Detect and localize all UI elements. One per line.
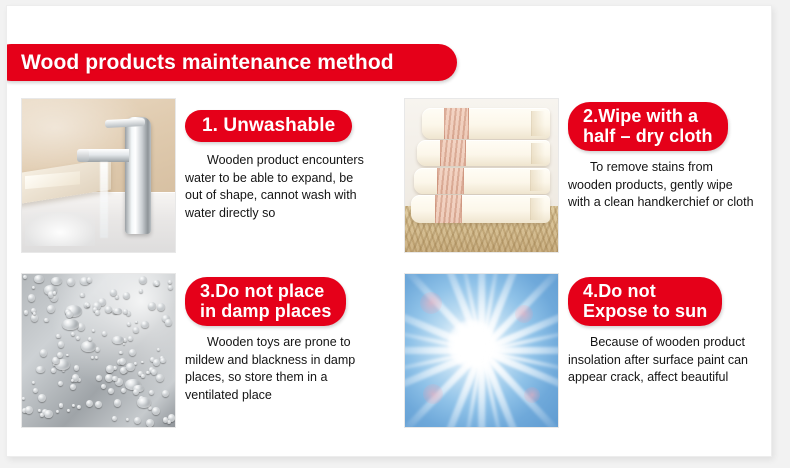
water-droplet <box>34 275 44 282</box>
water-droplet <box>101 384 106 389</box>
lens-flare-spot <box>515 305 533 323</box>
tip-heading-3: 3.Do not place in damp places <box>185 277 346 326</box>
towel-fold <box>530 170 545 191</box>
tip-heading-3-line1: 3.Do not place <box>200 281 324 301</box>
towel-band <box>440 140 466 166</box>
tip-description-4: Because of wooden product insolation aft… <box>568 334 754 387</box>
water-droplet <box>40 349 47 356</box>
content-canvas: Wood products maintenance method <box>6 5 772 457</box>
water-droplet <box>113 308 122 315</box>
water-stream <box>100 162 108 239</box>
water-droplet <box>157 303 165 311</box>
towel-3 <box>414 168 550 194</box>
tips-grid: 1. Unwashable Wooden product encounters … <box>7 98 772 428</box>
water-droplet <box>71 379 74 382</box>
water-droplet <box>32 381 36 385</box>
water-droplet <box>66 354 69 357</box>
water-droplet <box>24 310 28 314</box>
water-droplet <box>51 368 56 373</box>
tip-heading-2-line2: half – dry cloth <box>583 126 713 146</box>
water-droplet <box>80 293 85 298</box>
water-droplet <box>47 305 55 313</box>
water-droplet <box>38 409 41 412</box>
water-droplet <box>95 401 102 408</box>
water-droplet <box>157 348 160 351</box>
towel-band <box>444 108 469 139</box>
tip-body-2: 2.Wipe with a half – dry cloth To remove… <box>559 98 772 253</box>
water-droplet <box>153 359 160 366</box>
water-droplet <box>134 417 141 424</box>
lens-flare-spot <box>423 384 443 404</box>
tip-heading-1: 1. Unwashable <box>185 110 352 142</box>
sun-glare-photo <box>404 273 559 428</box>
water-droplet <box>121 388 126 393</box>
water-droplet <box>110 289 117 296</box>
water-droplet <box>115 295 119 299</box>
faucet-running-water-photo <box>21 98 176 253</box>
water-droplet <box>152 407 160 415</box>
water-droplet <box>96 375 102 381</box>
water-droplet <box>57 352 63 358</box>
water-droplet <box>149 390 154 395</box>
water-droplet <box>22 397 25 400</box>
tips-row-2: 3.Do not place in damp places Wooden toy… <box>7 273 772 428</box>
water-droplet <box>51 277 62 285</box>
water-droplet <box>156 374 164 382</box>
tip-card-4: 4.Do not Expose to sun Because of wooden… <box>390 273 772 428</box>
water-droplet <box>92 329 95 332</box>
water-droplet <box>44 410 52 418</box>
water-droplet <box>139 289 143 293</box>
water-droplet <box>23 275 27 279</box>
water-droplet <box>162 390 169 397</box>
tip-heading-4: 4.Do not Expose to sun <box>568 277 722 326</box>
tip-description-2: To remove stains from wooden products, g… <box>568 159 754 212</box>
water-droplet <box>129 349 136 356</box>
water-droplet <box>146 371 150 375</box>
water-droplet <box>123 343 126 346</box>
water-droplet <box>56 334 61 339</box>
water-droplet <box>119 358 126 365</box>
water-droplet <box>58 341 65 348</box>
water-droplet <box>72 404 75 407</box>
water-droplet <box>56 410 59 413</box>
tip-body-3: 3.Do not place in damp places Wooden toy… <box>176 273 390 428</box>
water-droplet <box>155 282 159 286</box>
water-droplet <box>58 381 63 386</box>
water-droplet <box>33 388 38 393</box>
water-droplet <box>40 413 43 416</box>
water-droplet <box>133 389 139 395</box>
water-droplet <box>91 356 94 359</box>
tip-heading-4-line2: Expose to sun <box>583 301 707 321</box>
page-title: Wood products maintenance method <box>21 51 394 75</box>
water-droplet <box>135 321 138 324</box>
water-droplet <box>102 331 107 336</box>
tip-heading-3-line2: in damp places <box>200 301 331 321</box>
tip-heading-2-line1: 2.Wipe with a <box>583 106 698 126</box>
water-droplet <box>38 394 46 402</box>
towel-4 <box>411 195 550 223</box>
water-droplet <box>128 336 133 341</box>
water-droplet <box>32 286 35 289</box>
water-splash <box>25 212 95 246</box>
water-droplet <box>126 363 134 371</box>
water-droplet <box>168 285 173 290</box>
water-droplet <box>77 405 81 409</box>
infographic-page: Wood products maintenance method <box>0 0 790 468</box>
tip-heading-1-line1: 1. Unwashable <box>202 115 335 136</box>
water-droplet <box>119 351 123 355</box>
towel-fold <box>531 143 545 164</box>
water-droplet <box>36 366 45 373</box>
water-droplet <box>133 327 139 333</box>
tip-heading-4-line1: 4.Do not <box>583 281 656 301</box>
water-droplet <box>139 276 147 284</box>
stacked-towels-photo <box>404 98 559 253</box>
water-droplet <box>66 311 73 318</box>
water-droplet <box>71 332 76 337</box>
tip-card-2: 2.Wipe with a half – dry cloth To remove… <box>390 98 772 253</box>
water-droplet <box>146 419 154 427</box>
water-droplet <box>141 361 144 364</box>
water-droplet <box>127 322 131 326</box>
water-droplet <box>86 400 93 407</box>
towel-1 <box>422 108 551 139</box>
water-droplet <box>141 321 149 329</box>
water-droplet <box>44 318 49 323</box>
water-droplet <box>62 319 79 331</box>
water-droplet <box>165 319 171 325</box>
water-droplet <box>151 369 157 375</box>
water-droplet <box>105 306 112 313</box>
water-droplet <box>95 310 100 315</box>
faucet-spout <box>79 149 129 161</box>
water-droplet <box>168 280 172 284</box>
tip-body-4: 4.Do not Expose to sun Because of wooden… <box>559 273 772 428</box>
water-droplet <box>114 399 121 406</box>
water-droplet <box>70 384 76 390</box>
water-droplet <box>67 278 75 286</box>
lens-flare-spot <box>524 387 540 403</box>
lens-flare-spot <box>420 292 442 314</box>
water-droplet <box>59 403 63 407</box>
towel-2 <box>417 140 550 166</box>
water-droplet <box>76 336 80 340</box>
page-title-banner: Wood products maintenance method <box>6 44 457 81</box>
tip-body-1: 1. Unwashable Wooden product encounters … <box>176 98 390 253</box>
water-droplet <box>126 418 129 421</box>
water-droplet <box>86 303 90 307</box>
water-droplet <box>148 302 156 310</box>
towel-band <box>435 195 462 223</box>
water-droplet <box>160 358 166 364</box>
water-droplet <box>31 314 39 322</box>
towel-band <box>437 168 464 194</box>
tips-row-1: 1. Unwashable Wooden product encounters … <box>7 98 772 253</box>
faucet-body <box>125 117 151 233</box>
water-droplet <box>28 294 36 302</box>
tip-heading-2: 2.Wipe with a half – dry cloth <box>568 102 728 151</box>
water-droplet <box>25 406 33 414</box>
water-droplet <box>108 388 114 394</box>
tip-card-1: 1. Unwashable Wooden product encounters … <box>7 98 390 253</box>
water-droplet <box>123 292 131 300</box>
water-droplet <box>74 365 80 371</box>
tip-description-1: Wooden product encounters water to be ab… <box>185 152 371 222</box>
water-droplet <box>53 291 57 295</box>
water-droplet <box>95 356 98 359</box>
water-droplet <box>112 416 117 421</box>
towel-fold <box>530 198 545 220</box>
water-droplet <box>137 397 151 407</box>
water-droplet <box>112 376 118 382</box>
towel-fold <box>531 111 545 136</box>
water-droplet <box>67 409 70 412</box>
water-droplet <box>106 365 114 373</box>
water-droplet <box>141 374 145 378</box>
water-droplet <box>163 417 168 422</box>
tip-card-3: 3.Do not place in damp places Wooden toy… <box>7 273 390 428</box>
tip-description-3: Wooden toys are prone to mildew and blac… <box>185 334 371 404</box>
water-droplet <box>87 277 93 283</box>
water-droplet <box>81 341 96 352</box>
water-droplets-photo <box>21 273 176 428</box>
